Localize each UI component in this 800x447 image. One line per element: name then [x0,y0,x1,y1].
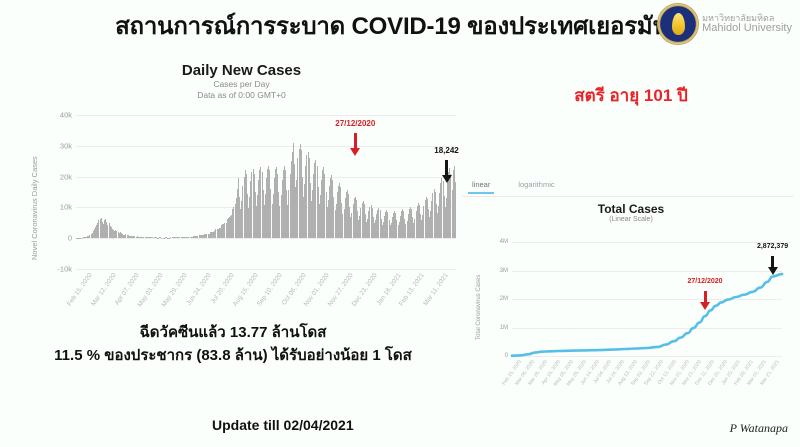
y-axis-tick: 3M [500,268,508,274]
x-axis-tick: Jul 20, 2020 [210,272,236,305]
stat-population-line: 11.5 % ของประชากร (83.8 ล้าน) ได้รับอย่า… [8,345,458,368]
annotation-label: 2,872,379 [757,243,788,250]
total-chart-title: Total Cases [462,202,800,216]
total-chart-subtitle: (Linear Scale) [462,216,800,223]
total-chart-plot-area: 4M3M2M1M0Feb 15, 2020Mar 06, 2020Mar 26,… [512,242,782,356]
y-axis-tick: 1M [500,325,508,331]
tabs-divider [462,196,794,197]
x-axis-tick: May 29, 2020 [160,272,188,308]
y-axis-tick: 40k [60,111,72,120]
y-axis-tick: 0 [68,234,72,243]
flame-icon [672,13,685,35]
daily-chart-subtitle: Cases per Day [14,79,469,90]
y-axis-tick: 20k [60,172,72,181]
y-axis-tick: 2M [500,296,508,302]
daily-chart-subtitle2: Data as of 0:00 GMT+0 [14,90,469,101]
annotation-label: 18,242 [434,146,458,155]
daily-chart-y-axis-label: Novel Coronavirus Daily Cases [30,156,39,260]
bar-series [76,115,456,238]
tab-logarithmic[interactable]: logarithmic [518,180,554,194]
scale-tabs[interactable]: linearlogarithmic [472,180,555,194]
bar [455,182,456,238]
total-cases-chart: linearlogarithmic Total Cases (Linear Sc… [462,180,800,395]
annotation-label: 27/12/2020 [335,119,375,128]
stat-doses-line: ฉีดวัคซีนแล้ว 13.77 ล้านโดส [8,322,458,345]
daily-chart-plot-area: 40k30k20k10k0-10kFeb 15, 2020Mar 12, 202… [76,115,456,269]
line-path [512,274,782,356]
total-cases-line-series [512,242,782,356]
tab-linear[interactable]: linear [472,180,490,194]
total-chart-y-axis-label: Total Coronavirus Cases [476,275,482,340]
daily-new-cases-chart: Daily New Cases Cases per Day Data as of… [14,60,469,310]
y-axis-tick: 10k [60,203,72,212]
y-axis-tick: 0 [505,353,508,359]
slide-root: สถานการณ์การระบาด COVID-19 ของประเทศเยอร… [0,0,800,447]
gridline [76,238,456,239]
logo-english-name: Mahidol University [702,23,792,35]
x-axis-tick: Mar 11, 2021 [422,272,449,307]
mahidol-seal-icon [658,4,698,44]
x-axis-tick: Sep 10, 2020 [256,272,284,308]
logo-wordmark: มหาวิทยาลัยมหิดล Mahidol University [702,14,792,35]
y-axis-tick: 4M [500,239,508,245]
page-title-text: สถานการณ์การระบาด COVID-19 ของประเทศเยอร… [115,6,685,45]
update-note: Update till 02/04/2021 [212,417,354,433]
y-axis-tick: 30k [60,141,72,150]
red-headline: สตรี อายุ 101 ปี [462,82,800,109]
gridline [512,356,782,357]
vaccination-stats: ฉีดวัคซีนแล้ว 13.77 ล้านโดส 11.5 % ของปร… [8,322,458,367]
author-signature: P Watanapa [730,421,788,436]
y-axis-tick: -10k [57,265,72,274]
gridline [76,269,456,270]
annotation-label: 27/12/2020 [688,278,723,285]
x-axis-tick: Jun 24, 2020 [185,272,212,307]
daily-chart-title: Daily New Cases [14,62,469,79]
university-logo: มหาวิทยาลัยมหิดล Mahidol University [658,4,792,44]
